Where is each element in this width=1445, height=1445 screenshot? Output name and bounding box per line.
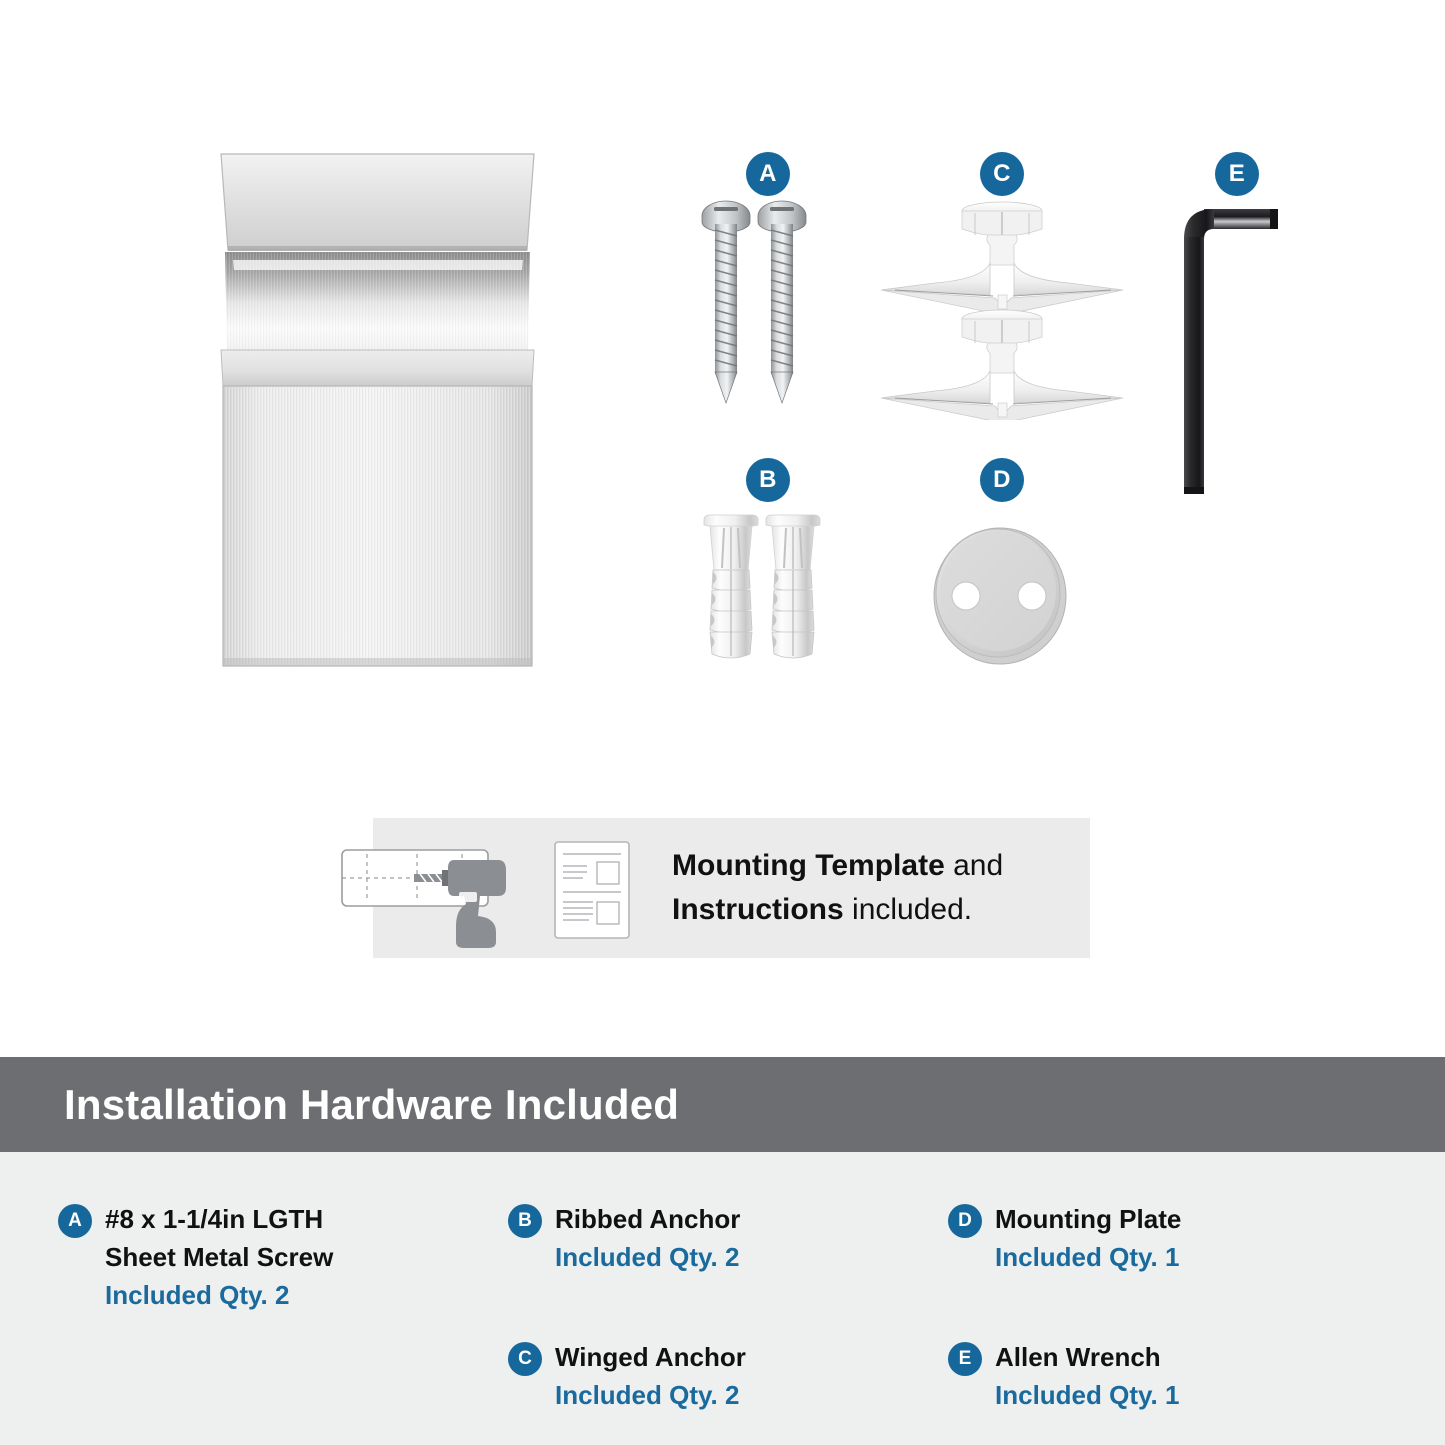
legend-qty-e: Included Qty. 1 bbox=[995, 1376, 1388, 1414]
installation-hardware-header: Installation Hardware Included bbox=[0, 1057, 1445, 1152]
legend-badge-a: A bbox=[58, 1204, 92, 1238]
legend-badge-e: E bbox=[948, 1342, 982, 1376]
allen-wrench-illustration bbox=[1170, 195, 1300, 525]
ribbed-anchor-illustration bbox=[700, 512, 845, 677]
list-item: B Ribbed Anchor Included Qty. 2 bbox=[508, 1200, 928, 1276]
legend-name-a: #8 x 1-1/4in LGTH Sheet Metal Screw bbox=[105, 1200, 478, 1276]
legend-column-3: D Mounting Plate Included Qty. 1 E Allen… bbox=[948, 1200, 1388, 1414]
list-item: A #8 x 1-1/4in LGTH Sheet Metal Screw In… bbox=[58, 1200, 478, 1314]
list-item: E Allen Wrench Included Qty. 1 bbox=[948, 1338, 1388, 1414]
banner-bold-instructions: Instructions bbox=[672, 893, 844, 926]
mounting-plate-illustration bbox=[920, 520, 1080, 670]
legend-badge-b: B bbox=[508, 1204, 542, 1238]
drill-icon bbox=[340, 808, 570, 958]
list-item: C Winged Anchor Included Qty. 2 bbox=[508, 1338, 928, 1414]
banner-and: and bbox=[945, 849, 1003, 882]
banner-text: Mounting Template and Instructions inclu… bbox=[672, 844, 1092, 932]
banner-bold-mounting-template: Mounting Template bbox=[672, 849, 945, 882]
legend-name-c: Winged Anchor bbox=[555, 1338, 928, 1376]
mounting-template-banner: Mounting Template and Instructions inclu… bbox=[0, 760, 1445, 1050]
legend-name-b: Ribbed Anchor bbox=[555, 1200, 928, 1238]
legend-column-2: B Ribbed Anchor Included Qty. 2 C Winged… bbox=[508, 1200, 928, 1414]
legend-name-e: Allen Wrench bbox=[995, 1338, 1388, 1376]
legend-name-d: Mounting Plate bbox=[995, 1200, 1388, 1238]
callout-badge-d: D bbox=[980, 458, 1024, 502]
legend-qty-d: Included Qty. 1 bbox=[995, 1238, 1388, 1276]
document-icon bbox=[553, 840, 633, 940]
list-item: D Mounting Plate Included Qty. 1 bbox=[948, 1200, 1388, 1276]
legend-qty-a: Included Qty. 2 bbox=[105, 1276, 478, 1314]
legend-badge-d: D bbox=[948, 1204, 982, 1238]
callout-badge-b: B bbox=[746, 458, 790, 502]
page-title: Installation Hardware Included bbox=[0, 1081, 679, 1129]
callout-badge-c: C bbox=[980, 152, 1024, 196]
callout-badge-e: E bbox=[1215, 152, 1259, 196]
sheet-metal-screw-illustration bbox=[700, 200, 850, 420]
legend-qty-b: Included Qty. 2 bbox=[555, 1238, 928, 1276]
legend-qty-c: Included Qty. 2 bbox=[555, 1376, 928, 1414]
product-image-square-knob bbox=[215, 150, 540, 670]
legend-column-1: A #8 x 1-1/4in LGTH Sheet Metal Screw In… bbox=[58, 1200, 478, 1314]
hardware-legend: A #8 x 1-1/4in LGTH Sheet Metal Screw In… bbox=[0, 1152, 1445, 1445]
legend-badge-c: C bbox=[508, 1342, 542, 1376]
banner-included: included. bbox=[844, 893, 972, 926]
winged-anchor-illustration bbox=[875, 195, 1130, 420]
callout-badge-a: A bbox=[746, 152, 790, 196]
